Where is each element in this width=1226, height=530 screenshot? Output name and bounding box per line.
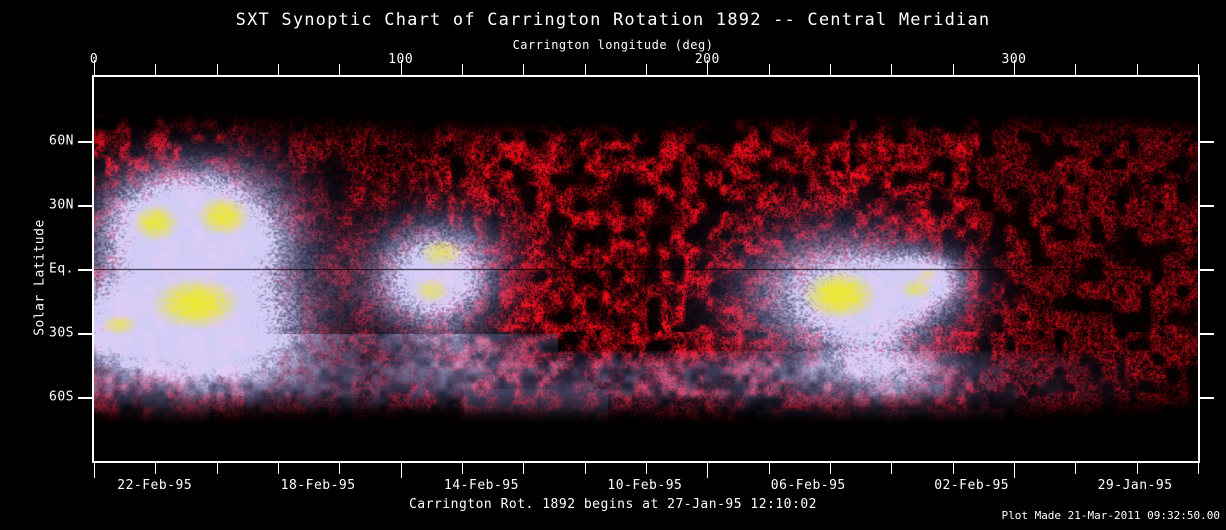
axis-tick [155,463,156,474]
axis-tick [278,64,279,75]
axis-tick [1200,205,1214,207]
y-axis-tick-label: 30N [49,198,74,213]
axis-tick [1200,269,1214,271]
date-axis-label: 14-Feb-95 [444,478,519,493]
y-axis-tick-label: Eq. [49,262,74,277]
x-axis-tick-label: 0 [90,52,98,67]
axis-tick [401,463,402,478]
axis-tick [1198,463,1199,474]
axis-tick [523,64,524,75]
axis-tick [953,64,954,75]
axis-tick [830,64,831,75]
page-title: SXT Synoptic Chart of Carrington Rotatio… [0,10,1226,30]
plot-area [92,75,1200,463]
axis-tick [78,141,92,143]
axis-tick [1014,463,1015,478]
axis-tick [78,269,92,271]
axis-tick [1137,463,1138,474]
axis-tick [1200,397,1214,399]
axis-tick [94,463,95,478]
y-axis-title: Solar Latitude [33,198,48,358]
x-axis-tick-label: 200 [695,52,720,67]
date-axis-label: 22-Feb-95 [117,478,192,493]
synoptic-map-image [94,77,1198,461]
axis-tick [339,64,340,75]
axis-tick [585,463,586,474]
axis-tick [1075,64,1076,75]
axis-tick [339,463,340,474]
date-axis-label: 06-Feb-95 [771,478,846,493]
x-axis-top-label: Carrington longitude (deg) [0,38,1226,52]
date-axis-label: 02-Feb-95 [934,478,1009,493]
date-axis-label: 10-Feb-95 [607,478,682,493]
y-axis-tick-label: 30S [49,326,74,341]
y-axis-tick-label: 60S [49,390,74,405]
axis-tick [523,463,524,474]
axis-tick [1200,333,1214,335]
axis-tick [1137,64,1138,75]
axis-tick [155,64,156,75]
axis-tick [953,463,954,474]
axis-tick [585,64,586,75]
axis-tick [707,463,708,478]
plot-made-timestamp: Plot Made 21-Mar-2011 09:32:50.00 [1001,509,1220,522]
axis-tick [769,463,770,474]
axis-tick [769,64,770,75]
date-axis-label: 29-Jan-95 [1098,478,1173,493]
axis-tick [278,463,279,474]
axis-tick [78,397,92,399]
axis-tick [217,64,218,75]
x-axis-tick-label: 100 [388,52,413,67]
y-axis-tick-label: 60N [49,134,74,149]
axis-tick [1200,141,1214,143]
axis-tick [462,463,463,474]
date-axis-label: 18-Feb-95 [281,478,356,493]
axis-tick [891,463,892,474]
axis-tick [217,463,218,474]
synoptic-chart-figure: SXT Synoptic Chart of Carrington Rotatio… [0,0,1226,530]
axis-tick [646,463,647,474]
axis-tick [462,64,463,75]
axis-tick [891,64,892,75]
axis-tick [1198,64,1199,75]
x-axis-tick-label: 300 [1002,52,1027,67]
axis-tick [78,333,92,335]
axis-tick [830,463,831,474]
axis-tick [646,64,647,75]
axis-tick [78,205,92,207]
axis-tick [1075,463,1076,474]
